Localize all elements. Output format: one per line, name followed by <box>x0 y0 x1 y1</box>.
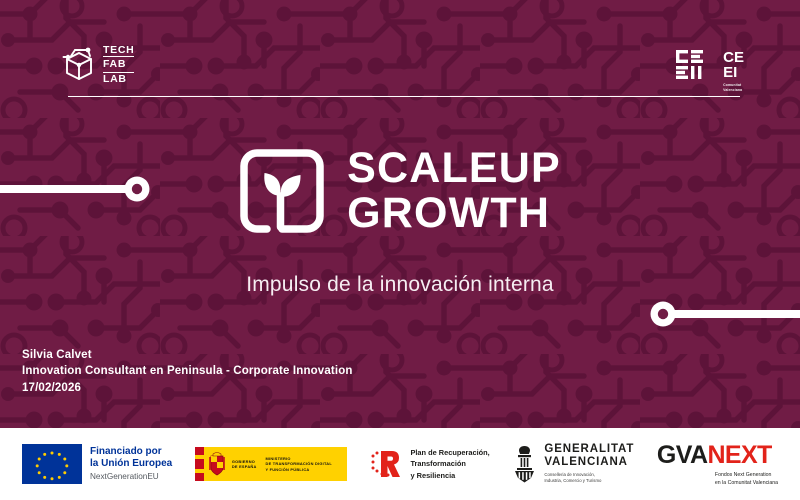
slide-main-content: SCALEUP GROWTH Impulso de la innovación … <box>0 104 800 324</box>
spain-flag-stripe-icon <box>195 447 204 481</box>
sprout-in-rounded-square-icon <box>239 148 325 234</box>
generalitat-line-1: GENERALITAT <box>544 443 634 456</box>
speaker-role: Innovation Consultant en Peninsula - Cor… <box>22 363 353 379</box>
techfablab-line-1: TECH <box>103 44 134 56</box>
plan-line-1: Plan de Recuperación, <box>410 447 489 458</box>
generalitat-valenciana-logo: GENERALITAT VALENCIANA Conselleria de In… <box>512 443 634 484</box>
plan-line-3: y Resiliencia <box>410 470 489 481</box>
slide-footer: Financiado por la Unión Europea NextGene… <box>0 428 800 500</box>
ministerio-line-3: Y FUNCIÓN PÚBLICA <box>266 467 332 472</box>
eu-flag-icon <box>22 444 82 484</box>
title-line-1: SCALEUP <box>347 146 561 191</box>
techfablab-logo: TECH FAB LAB <box>62 44 134 85</box>
speaker-name: Silvia Calvet <box>22 347 353 363</box>
ceei-logo: CE EI Comunitat Valenciana <box>676 50 744 93</box>
slide-subtitle: Impulso de la innovación interna <box>246 273 554 297</box>
plan-recuperacion-logo: Plan de Recuperación, Transformación y R… <box>369 447 489 480</box>
techfablab-cube-icon <box>62 47 96 83</box>
eu-line-2: la Unión Europea <box>90 458 172 470</box>
header-divider <box>68 96 740 97</box>
generalitat-valenciana-crest-icon <box>512 445 537 483</box>
plan-recuperacion-r-icon <box>369 448 403 480</box>
conselleria-line-2: Industria, Comercio y Turismo <box>544 478 634 484</box>
presentation-date: 17/02/2026 <box>22 380 353 396</box>
spain-coat-of-arms-icon <box>207 451 227 477</box>
gva-next-sub-line-1: Fondos Next Generation <box>715 472 778 480</box>
ceei-logo-icon <box>676 50 720 80</box>
techfablab-line-2: FAB <box>103 56 134 72</box>
slide-header: TECH FAB LAB <box>0 0 800 100</box>
scaleup-growth-logo: SCALEUP GROWTH <box>239 146 561 235</box>
gva-next-logo: GVA NEXT Fondos Next Generation en la Co… <box>657 441 778 488</box>
gva-next-word-1: GVA <box>657 441 708 470</box>
plan-line-2: Transformación <box>410 458 489 469</box>
ceei-sub-line-2: Valenciana <box>723 88 744 93</box>
gobierno-line-2: DE ESPAÑA <box>232 464 257 469</box>
speaker-info: Silvia Calvet Innovation Consultant en P… <box>22 347 353 396</box>
gva-next-word-2: NEXT <box>707 441 771 470</box>
techfablab-line-3: LAB <box>103 73 134 85</box>
eu-line-3: NextGenerationEU <box>90 472 172 482</box>
eu-funding-logo: Financiado por la Unión Europea NextGene… <box>22 444 172 484</box>
ministerio-line-2: DE TRANSFORMACIÓN DIGITAL <box>266 461 332 466</box>
generalitat-line-2: VALENCIANA <box>544 456 634 469</box>
title-line-2: GROWTH <box>347 191 561 236</box>
ceei-block-2: EI <box>723 64 737 81</box>
presentation-slide: TECH FAB LAB <box>0 0 800 500</box>
gobierno-de-espana-logo: GOBIERNO DE ESPAÑA MINISTERIO DE TRANSFO… <box>195 447 347 481</box>
eu-line-1: Financiado por <box>90 446 172 458</box>
gva-next-sub-line-2: en la Comunitat Valenciana <box>715 480 778 488</box>
